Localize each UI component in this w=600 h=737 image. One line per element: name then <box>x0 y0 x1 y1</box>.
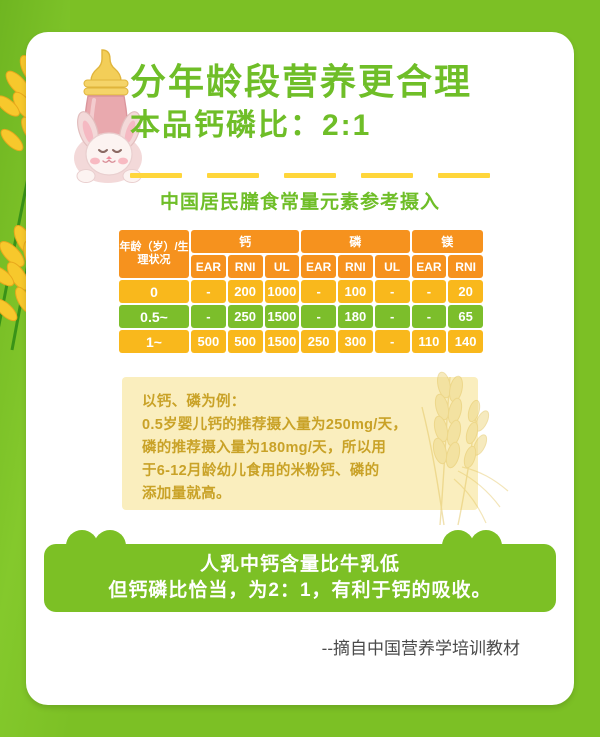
subheader-p-ul: UL <box>375 255 410 278</box>
cell-ca-ear: 500 <box>191 330 226 353</box>
cell-p-ul: - <box>375 305 410 328</box>
note-line-2: 0.5岁婴儿钙的推荐摄入量为250mg/天， <box>142 414 454 437</box>
cell-p-ear: - <box>301 280 336 303</box>
cell-mg-ear: - <box>412 305 447 328</box>
header-age-condition: 年龄（岁）/生理状况 <box>119 230 189 278</box>
cell-p-ul: - <box>375 330 410 353</box>
table-group-header-row: 年龄（岁）/生理状况 钙 磷 镁 <box>119 230 483 253</box>
subheader-ca-ul: UL <box>265 255 300 278</box>
cell-p-ul: - <box>375 280 410 303</box>
conclusion-banner: 人乳中钙含量比牛乳低 但钙磷比恰当，为2：1，有利于钙的吸收。 <box>44 530 556 612</box>
table-row: 1~ 500 500 1500 250 300 - 110 140 <box>119 330 483 353</box>
title-block: 分年龄段营养更合理 本品钙磷比：2:1 <box>130 60 550 146</box>
cell-mg-ear: 110 <box>412 330 447 353</box>
cell-mg-rni: 20 <box>448 280 483 303</box>
divider-dash <box>361 173 413 178</box>
cell-p-ear: 250 <box>301 330 336 353</box>
page-subtitle-ratio: 本品钙磷比：2:1 <box>130 106 550 146</box>
divider-dash <box>438 173 490 178</box>
subheader-ca-ear: EAR <box>191 255 226 278</box>
dashed-divider <box>130 173 490 179</box>
cell-ca-ul: 1500 <box>265 330 300 353</box>
cell-ca-rni: 250 <box>228 305 263 328</box>
cell-mg-rni: 65 <box>448 305 483 328</box>
cell-mg-ear: - <box>412 280 447 303</box>
note-line-5: 添加量就高。 <box>142 483 454 506</box>
nutrient-reference-table: 年龄（岁）/生理状况 钙 磷 镁 EAR RNI UL EAR RNI UL E… <box>117 228 485 355</box>
subheader-mg-ear: EAR <box>412 255 447 278</box>
header-group-calcium: 钙 <box>191 230 299 253</box>
subheader-p-ear: EAR <box>301 255 336 278</box>
cell-ca-ul: 1000 <box>265 280 300 303</box>
note-line-3: 磷的推荐摄入量为180mg/天，所以用 <box>142 437 454 460</box>
cell-p-rni: 180 <box>338 305 373 328</box>
cell-ca-ul: 1500 <box>265 305 300 328</box>
table-row-highlighted: 0.5~ - 250 1500 - 180 - - 65 <box>119 305 483 328</box>
row-label: 1~ <box>119 330 189 353</box>
header-group-magnesium: 镁 <box>412 230 484 253</box>
cell-p-ear: - <box>301 305 336 328</box>
row-label: 0.5~ <box>119 305 189 328</box>
table-row: 0 - 200 1000 - 100 - - 20 <box>119 280 483 303</box>
subheader-ca-rni: RNI <box>228 255 263 278</box>
subheader-p-rni: RNI <box>338 255 373 278</box>
cell-ca-ear: - <box>191 305 226 328</box>
row-label: 0 <box>119 280 189 303</box>
cell-ca-rni: 500 <box>228 330 263 353</box>
note-line-4: 于6-12月龄幼儿食用的米粉钙、磷的 <box>142 460 454 483</box>
divider-dash <box>130 173 182 178</box>
cell-ca-ear: - <box>191 280 226 303</box>
attribution-text: --摘自中国营养学培训教材 <box>26 634 554 659</box>
subheader-mg-rni: RNI <box>448 255 483 278</box>
banner-line-2: 但钙磷比恰当，为2：1，有利于钙的吸收。 <box>108 578 491 604</box>
banner-body: 人乳中钙含量比牛乳低 但钙磷比恰当，为2：1，有利于钙的吸收。 <box>44 544 556 612</box>
cell-ca-rni: 200 <box>228 280 263 303</box>
page-title: 分年龄段营养更合理 <box>130 60 550 104</box>
divider-dash <box>284 173 336 178</box>
divider-dash <box>207 173 259 178</box>
cell-p-rni: 100 <box>338 280 373 303</box>
note-line-1: 以钙、磷为例： <box>142 391 454 414</box>
example-note-text: 以钙、磷为例： 0.5岁婴儿钙的推荐摄入量为250mg/天， 磷的推荐摄入量为1… <box>142 391 454 506</box>
cell-p-rni: 300 <box>338 330 373 353</box>
cell-mg-rni: 140 <box>448 330 483 353</box>
header-group-phosphorus: 磷 <box>301 230 409 253</box>
example-note-box: 以钙、磷为例： 0.5岁婴儿钙的推荐摄入量为250mg/天， 磷的推荐摄入量为1… <box>122 377 478 510</box>
table-caption: 中国居民膳食常量元素参考摄入 <box>26 187 574 214</box>
banner-line-1: 人乳中钙含量比牛乳低 <box>200 552 400 578</box>
content-card: 分年龄段营养更合理 本品钙磷比：2:1 中国居民膳食常量元素参考摄入 年龄（岁）… <box>26 32 574 705</box>
